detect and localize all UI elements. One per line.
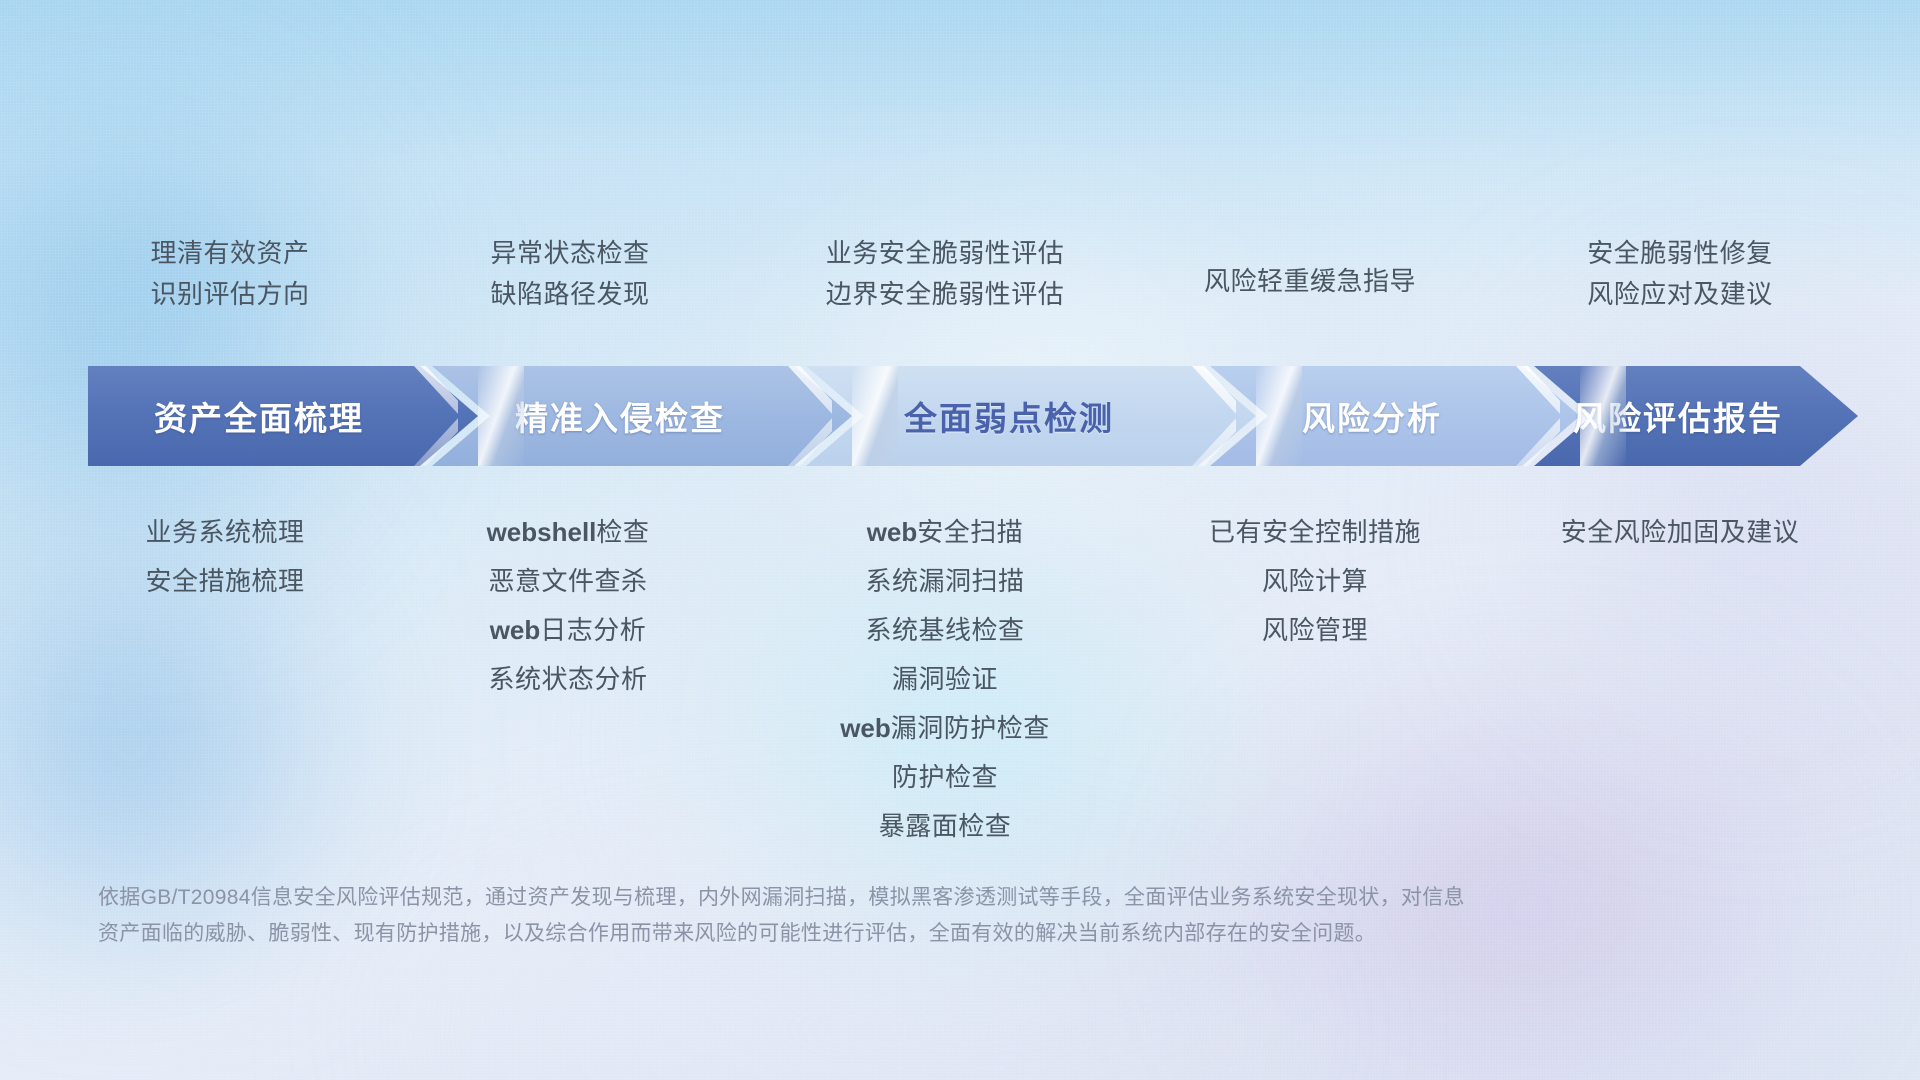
stage-3-bottom-item: 防护检查	[760, 753, 1130, 802]
stage-1-bottom-item: 安全措施梳理	[55, 557, 395, 606]
stage-3-bottom-item-cn: 漏洞验证	[892, 664, 998, 694]
stage-4-bottom-item-cn: 已有安全控制措施	[1209, 517, 1421, 547]
stage-2-bottom-item-latin: web	[490, 615, 541, 645]
stage-2-bottom-items: webshell检查 恶意文件查杀 web日志分析 系统状态分析	[398, 508, 738, 704]
stage-4-bottom-items: 已有安全控制措施 风险计算 风险管理	[1135, 508, 1495, 655]
chevron-stage-3-label: 全面弱点检测	[904, 392, 1114, 440]
stage-2-bottom-item-latin: webshell	[487, 517, 597, 547]
stage-2-bottom-item-cn: 检查	[596, 517, 649, 547]
stage-5-bottom-item: 安全风险加固及建议	[1480, 508, 1880, 557]
stage-3-bottom-item-cn: 安全扫描	[917, 517, 1023, 547]
stage-4-top-item: 风险轻重缓急指导	[1130, 261, 1490, 302]
stage-4-bottom-item: 风险管理	[1135, 606, 1495, 655]
stage-1-bottom-item-cn: 业务系统梳理	[145, 517, 304, 547]
footer-line-2: 资产面临的威胁、脆弱性、现有防护措施，以及综合作用而带来风险的可能性进行评估，全…	[98, 916, 1638, 952]
stage-5-bottom-item-cn: 安全风险加固及建议	[1561, 517, 1800, 547]
stage-2-bottom-item: 系统状态分析	[398, 655, 738, 704]
chevron-stage-2-label: 精准入侵检查	[515, 392, 725, 440]
stage-1-top-item: 理清有效资产	[60, 233, 400, 274]
footer-line-1: 依据GB/T20984信息安全风险评估规范，通过资产发现与梳理，内外网漏洞扫描，…	[98, 880, 1638, 916]
stage-4-bottom-item-cn: 风险计算	[1262, 566, 1368, 596]
stage-3-bottom-item-cn: 系统漏洞扫描	[865, 566, 1024, 596]
stage-2-bottom-item-cn: 系统状态分析	[488, 664, 647, 694]
stage-1-top-items: 理清有效资产 识别评估方向	[60, 233, 400, 315]
chevron-divider-3	[1256, 366, 1302, 466]
footer-description: 依据GB/T20984信息安全风险评估规范，通过资产发现与梳理，内外网漏洞扫描，…	[98, 880, 1638, 952]
stage-5-top-items: 安全脆弱性修复 风险应对及建议	[1490, 233, 1870, 315]
stage-2-top-item: 异常状态检查	[400, 233, 740, 274]
stage-5-top-item: 风险应对及建议	[1490, 274, 1870, 315]
stage-2-top-item: 缺陷路径发现	[400, 274, 740, 315]
stage-2-top-items: 异常状态检查 缺陷路径发现	[400, 233, 740, 315]
stage-1-bottom-items: 业务系统梳理 安全措施梳理	[55, 508, 395, 606]
chevron-stage-1[interactable]: 资产全面梳理	[88, 366, 478, 466]
stage-5-bottom-items: 安全风险加固及建议	[1480, 508, 1880, 557]
stage-4-top-items: 风险轻重缓急指导	[1130, 261, 1490, 302]
stage-3-top-items: 业务安全脆弱性评估 边界安全脆弱性评估	[750, 233, 1140, 315]
stage-5-top-item: 安全脆弱性修复	[1490, 233, 1870, 274]
stage-3-bottom-item-latin: web	[867, 517, 918, 547]
stage-4-bottom-item: 风险计算	[1135, 557, 1495, 606]
stage-1-bottom-item: 业务系统梳理	[55, 508, 395, 557]
stage-3-bottom-item-cn: 暴露面检查	[879, 811, 1012, 841]
chevron-divider-1	[478, 366, 524, 466]
stage-2-bottom-item: 恶意文件查杀	[398, 557, 738, 606]
stage-3-bottom-items: web安全扫描 系统漏洞扫描 系统基线检查 漏洞验证 web漏洞防护检查 防护检…	[760, 508, 1130, 851]
stage-3-top-item: 业务安全脆弱性评估	[750, 233, 1140, 274]
stage-2-bottom-item: web日志分析	[398, 606, 738, 655]
stage-3-bottom-item: 系统基线检查	[760, 606, 1130, 655]
chevron-stage-1-label: 资产全面梳理	[154, 392, 364, 440]
chevron-divider-2	[852, 366, 898, 466]
diagram-content: 理清有效资产 识别评估方向 异常状态检查 缺陷路径发现 业务安全脆弱性评估 边界…	[0, 0, 1920, 1080]
stage-3-top-item: 边界安全脆弱性评估	[750, 274, 1140, 315]
stage-4-bottom-item: 已有安全控制措施	[1135, 508, 1495, 557]
stage-3-bottom-item-cn: 系统基线检查	[865, 615, 1024, 645]
stage-1-bottom-item-cn: 安全措施梳理	[145, 566, 304, 596]
stage-3-bottom-item-cn: 防护检查	[892, 762, 998, 792]
stage-3-bottom-item: 系统漏洞扫描	[760, 557, 1130, 606]
stage-1-top-item: 识别评估方向	[60, 274, 400, 315]
process-chevron-band: 资产全面梳理 精准入侵检查 全面弱点检测 风险分析 风险评估报告	[88, 366, 1858, 466]
stage-2-bottom-item: webshell检查	[398, 508, 738, 557]
stage-2-bottom-item-cn: 日志分析	[540, 615, 646, 645]
stage-3-bottom-item: web安全扫描	[760, 508, 1130, 557]
stage-3-bottom-item: 暴露面检查	[760, 802, 1130, 851]
stage-3-bottom-item-cn: 漏洞防护检查	[891, 713, 1050, 743]
stage-2-bottom-item-cn: 恶意文件查杀	[488, 566, 647, 596]
stage-3-bottom-item-latin: web	[840, 713, 891, 743]
stage-4-bottom-item-cn: 风险管理	[1262, 615, 1368, 645]
stage-3-bottom-item: web漏洞防护检查	[760, 704, 1130, 753]
chevron-stage-4-label: 风险分析	[1302, 392, 1442, 440]
stage-3-bottom-item: 漏洞验证	[760, 655, 1130, 704]
chevron-divider-4	[1580, 366, 1626, 466]
